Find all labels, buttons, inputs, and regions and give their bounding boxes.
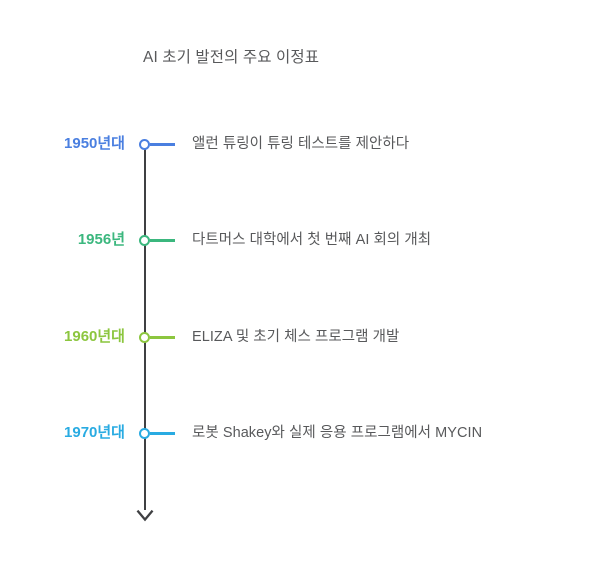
page-title: AI 초기 발전의 주요 이정표 [143, 47, 319, 69]
timeline-event[interactable]: 1956년다트머스 대학에서 첫 번째 AI 회의 개최 [0, 227, 614, 253]
timeline-event-year: 1960년대 [0, 324, 125, 350]
timeline-marker-dot-icon[interactable] [139, 139, 150, 150]
timeline-event[interactable]: 1970년대로봇 Shakey와 실제 응용 프로그램에서 MYCIN [0, 420, 614, 446]
timeline-marker-dot-icon[interactable] [139, 428, 150, 439]
timeline-event-description: 다트머스 대학에서 첫 번째 AI 회의 개최 [192, 227, 431, 253]
timeline-marker-dot-icon[interactable] [139, 235, 150, 246]
timeline-event[interactable]: 1950년대앨런 튜링이 튜링 테스트를 제안하다 [0, 131, 614, 157]
timeline-canvas: AI 초기 발전의 주요 이정표 1950년대앨런 튜링이 튜링 테스트를 제안… [0, 0, 614, 571]
timeline-event-year: 1950년대 [0, 131, 125, 157]
timeline-connector-line [150, 432, 175, 435]
timeline-event-description: ELIZA 및 초기 체스 프로그램 개발 [192, 324, 399, 350]
timeline-event[interactable]: 1960년대ELIZA 및 초기 체스 프로그램 개발 [0, 324, 614, 350]
timeline-marker-dot-icon[interactable] [139, 332, 150, 343]
timeline-connector-line [150, 336, 175, 339]
timeline-event-year: 1956년 [0, 227, 125, 253]
timeline-event-description: 로봇 Shakey와 실제 응용 프로그램에서 MYCIN [192, 420, 482, 446]
timeline-event-year: 1970년대 [0, 420, 125, 446]
timeline-connector-line [150, 239, 175, 242]
down-arrow-icon [131, 500, 159, 524]
timeline-connector-line [150, 143, 175, 146]
timeline-event-description: 앨런 튜링이 튜링 테스트를 제안하다 [192, 131, 409, 157]
